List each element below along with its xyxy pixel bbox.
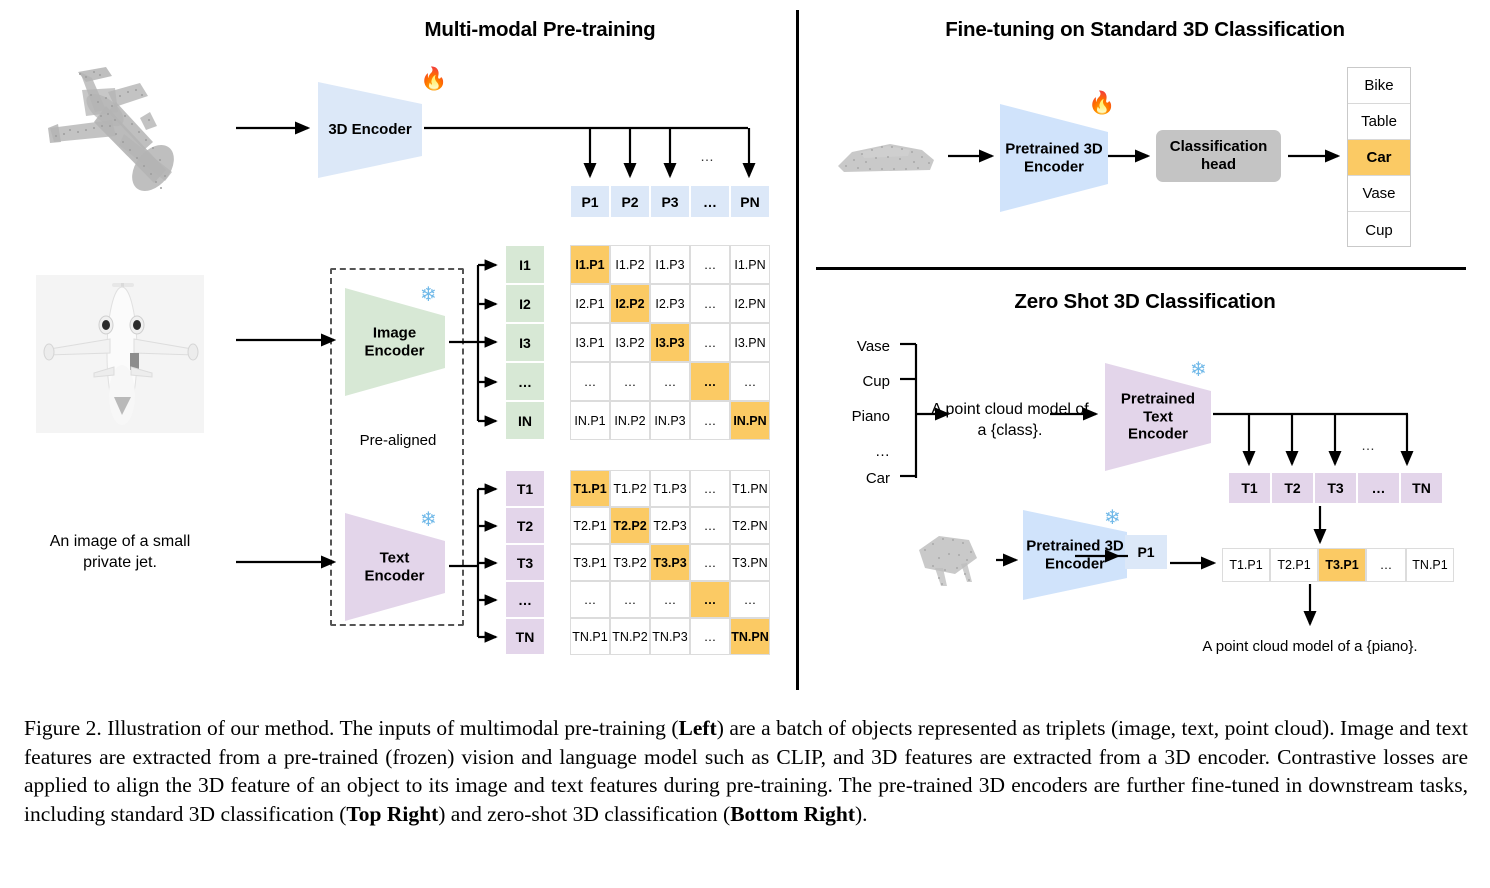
class-list-topright: Bike Table Car Vase Cup xyxy=(1347,67,1411,247)
t-cell: T1 xyxy=(505,470,545,507)
matrix-cell: … xyxy=(690,544,730,581)
matrix-cell: T2.P1 xyxy=(570,507,610,544)
matrix-cell: TN.PN xyxy=(730,618,770,655)
matrix-cell: I1.PN xyxy=(730,245,770,284)
figure-canvas: Multi-modal Pre-training xyxy=(0,0,1490,700)
panel-title-bottomright: Zero Shot 3D Classification xyxy=(820,290,1470,314)
classification-head: Classificationhead xyxy=(1156,130,1281,182)
zs-t-cell: T3 xyxy=(1314,472,1357,504)
matrix-cell: T1.P2 xyxy=(610,470,650,507)
zs-class-car: Car xyxy=(832,470,890,487)
matrix-cell: T1.PN xyxy=(730,470,770,507)
prealigned-label: Pre-aligned xyxy=(343,432,453,449)
matrix-cell: I2.P1 xyxy=(570,284,610,323)
class-row-selected[interactable]: Car xyxy=(1348,140,1410,176)
matrix-cell: I2.PN xyxy=(730,284,770,323)
i-cell: I1 xyxy=(505,245,545,284)
pretrained-3d-encoder-zs-label: Pretrained 3DEncoder xyxy=(1023,537,1133,572)
matrix-cell: T3.P2 xyxy=(610,544,650,581)
t-cell: T3 xyxy=(505,544,545,581)
matrix-cell: T3.P1 xyxy=(570,544,610,581)
text-input-label: An image of a smallprivate jet. xyxy=(10,532,230,574)
p-cell: P3 xyxy=(650,185,690,218)
zs-t-cell: TN xyxy=(1400,472,1443,504)
matrix-cell: IN.PN xyxy=(730,401,770,440)
matrix-cell: I3.P2 xyxy=(610,323,650,362)
matrix-row: I3.P1 I3.P2 I3.P3 … I3.PN xyxy=(570,323,770,362)
prompt-template: A point cloud model ofa {class}. xyxy=(910,400,1110,442)
matrix-cell: IN.P2 xyxy=(610,401,650,440)
p-cell: P1 xyxy=(570,185,610,218)
encoder-text-label: TextEncoder xyxy=(345,549,450,584)
sim-cell: T1.P1 xyxy=(1222,548,1270,582)
p-cell: PN xyxy=(730,185,770,218)
matrix-cell: T1.P3 xyxy=(650,470,690,507)
p1-feature-box: P1 xyxy=(1125,535,1167,569)
matrix-cell: … xyxy=(690,470,730,507)
matrix-cell: IN.P1 xyxy=(570,401,610,440)
class-row[interactable]: Bike xyxy=(1348,68,1410,104)
text-feature-column: T1 T2 T3 … TN xyxy=(505,470,545,655)
encoder-3d: 3D Encoder xyxy=(318,82,428,178)
matrix-row: IN.P1 IN.P2 IN.P3 … IN.PN xyxy=(570,401,770,440)
zs-result-label: A point cloud model of a {piano}. xyxy=(1160,638,1460,655)
matrix-cell: … xyxy=(650,581,690,618)
i-cell: I2 xyxy=(505,284,545,323)
zs-class-piano: Piano xyxy=(825,408,890,425)
matrix-cell: TN.P1 xyxy=(570,618,610,655)
zs-t-cell: … xyxy=(1357,472,1400,504)
snowflake-icon-text-encoder-zs: ❄ xyxy=(1190,360,1207,380)
i-cell: I3 xyxy=(505,323,545,362)
matrix-cell: IN.P3 xyxy=(650,401,690,440)
vertical-divider xyxy=(796,10,799,690)
panel-title-left: Multi-modal Pre-training xyxy=(280,18,800,42)
encoder-3d-label: 3D Encoder xyxy=(318,121,428,139)
matrix-cell: … xyxy=(690,581,730,618)
jet-image xyxy=(36,275,204,433)
p-row-ellipsis: … xyxy=(700,148,714,164)
encoder-image-label: ImageEncoder xyxy=(345,324,450,359)
matrix-cell: T2.P2 xyxy=(610,507,650,544)
image-feature-column: I1 I2 I3 … IN xyxy=(505,245,545,440)
text-matrix-row: TN.P1 TN.P2 TN.P3 … TN.PN xyxy=(570,618,770,655)
sim-cell: T2.P1 xyxy=(1270,548,1318,582)
matrix-cell: … xyxy=(690,507,730,544)
zs-t-cell: T1 xyxy=(1228,472,1271,504)
matrix-cell: T2.PN xyxy=(730,507,770,544)
matrix-cell: TN.P3 xyxy=(650,618,690,655)
matrix-cell: T3.PN xyxy=(730,544,770,581)
matrix-cell: … xyxy=(690,323,730,362)
zs-class-vase: Vase xyxy=(832,338,890,355)
zs-similarity-row: T1.P1 T2.P1 T3.P1 … TN.P1 xyxy=(1222,548,1454,582)
fire-icon: 🔥 xyxy=(420,68,447,90)
zs-text-feature-row: T1 T2 T3 … TN xyxy=(1228,472,1443,504)
matrix-cell: T2.P3 xyxy=(650,507,690,544)
car-point-cloud xyxy=(830,128,940,186)
matrix-cell: … xyxy=(650,362,690,401)
matrix-cell: … xyxy=(690,362,730,401)
panel-title-topright: Fine-tuning on Standard 3D Classificatio… xyxy=(820,18,1470,42)
matrix-cell: … xyxy=(690,401,730,440)
matrix-cell: … xyxy=(570,581,610,618)
point-feature-row: P1 P2 P3 … PN xyxy=(570,185,770,218)
zs-class-ellipsis: … xyxy=(832,443,890,460)
matrix-cell: I3.P1 xyxy=(570,323,610,362)
t-cell: … xyxy=(505,581,545,618)
text-matrix-row: T2.P1 T2.P2 T2.P3 … T2.PN xyxy=(570,507,770,544)
p-cell: P2 xyxy=(610,185,650,218)
zs-t-row-ellipsis: … xyxy=(1361,437,1375,453)
fire-icon-topright: 🔥 xyxy=(1088,92,1115,114)
matrix-cell: TN.P2 xyxy=(610,618,650,655)
i-cell: … xyxy=(505,362,545,401)
matrix-row: … … … … … xyxy=(570,362,770,401)
matrix-cell: T3.P3 xyxy=(650,544,690,581)
snowflake-icon-3d-encoder-zs: ❄ xyxy=(1104,508,1121,528)
class-row[interactable]: Vase xyxy=(1348,176,1410,212)
matrix-row: I1.P1 I1.P2 I1.P3 … I1.PN xyxy=(570,245,770,284)
t-cell: TN xyxy=(505,618,545,655)
snowflake-icon-image-encoder: ❄ xyxy=(420,285,437,305)
matrix-cell: I1.P2 xyxy=(610,245,650,284)
matrix-cell: I3.P3 xyxy=(650,323,690,362)
t-cell: T2 xyxy=(505,507,545,544)
zs-class-cup: Cup xyxy=(832,373,890,390)
matrix-cell: I2.P2 xyxy=(610,284,650,323)
matrix-cell: I1.P1 xyxy=(570,245,610,284)
figure-caption: Figure 2. Illustration of our method. Th… xyxy=(24,714,1468,828)
matrix-cell: I2.P3 xyxy=(650,284,690,323)
horizontal-divider xyxy=(816,267,1466,270)
class-row[interactable]: Cup xyxy=(1348,212,1410,248)
matrix-cell: I1.P3 xyxy=(650,245,690,284)
i-cell: IN xyxy=(505,401,545,440)
text-matrix-row: T1.P1 T1.P2 T1.P3 … T1.PN xyxy=(570,470,770,507)
matrix-cell: … xyxy=(610,362,650,401)
zs-t-cell: T2 xyxy=(1271,472,1314,504)
class-row[interactable]: Table xyxy=(1348,104,1410,140)
pretrained-text-encoder-label: Pretrained TextEncoder xyxy=(1105,390,1217,443)
matrix-cell: … xyxy=(610,581,650,618)
snowflake-icon-text-encoder: ❄ xyxy=(420,510,437,530)
matrix-cell: … xyxy=(570,362,610,401)
text-matrix-row: … … … … … xyxy=(570,581,770,618)
matrix-cell: … xyxy=(690,245,730,284)
pretrained-3d-encoder-topright-label: Pretrained 3DEncoder xyxy=(1000,140,1114,175)
piano-point-cloud xyxy=(915,528,987,590)
airplane-point-cloud xyxy=(20,50,230,225)
matrix-cell: I3.PN xyxy=(730,323,770,362)
matrix-row: I2.P1 I2.P2 I2.P3 … I2.PN xyxy=(570,284,770,323)
text-matrix-row: T3.P1 T3.P2 T3.P3 … T3.PN xyxy=(570,544,770,581)
sim-cell: TN.P1 xyxy=(1406,548,1454,582)
sim-cell: … xyxy=(1366,548,1406,582)
matrix-cell: … xyxy=(730,362,770,401)
p-cell: … xyxy=(690,185,730,218)
matrix-cell: … xyxy=(730,581,770,618)
matrix-cell: T1.P1 xyxy=(570,470,610,507)
pretrained-3d-encoder-topright: Pretrained 3DEncoder xyxy=(1000,104,1114,212)
sim-cell-highlight: T3.P1 xyxy=(1318,548,1366,582)
matrix-cell: … xyxy=(690,618,730,655)
matrix-cell: … xyxy=(690,284,730,323)
